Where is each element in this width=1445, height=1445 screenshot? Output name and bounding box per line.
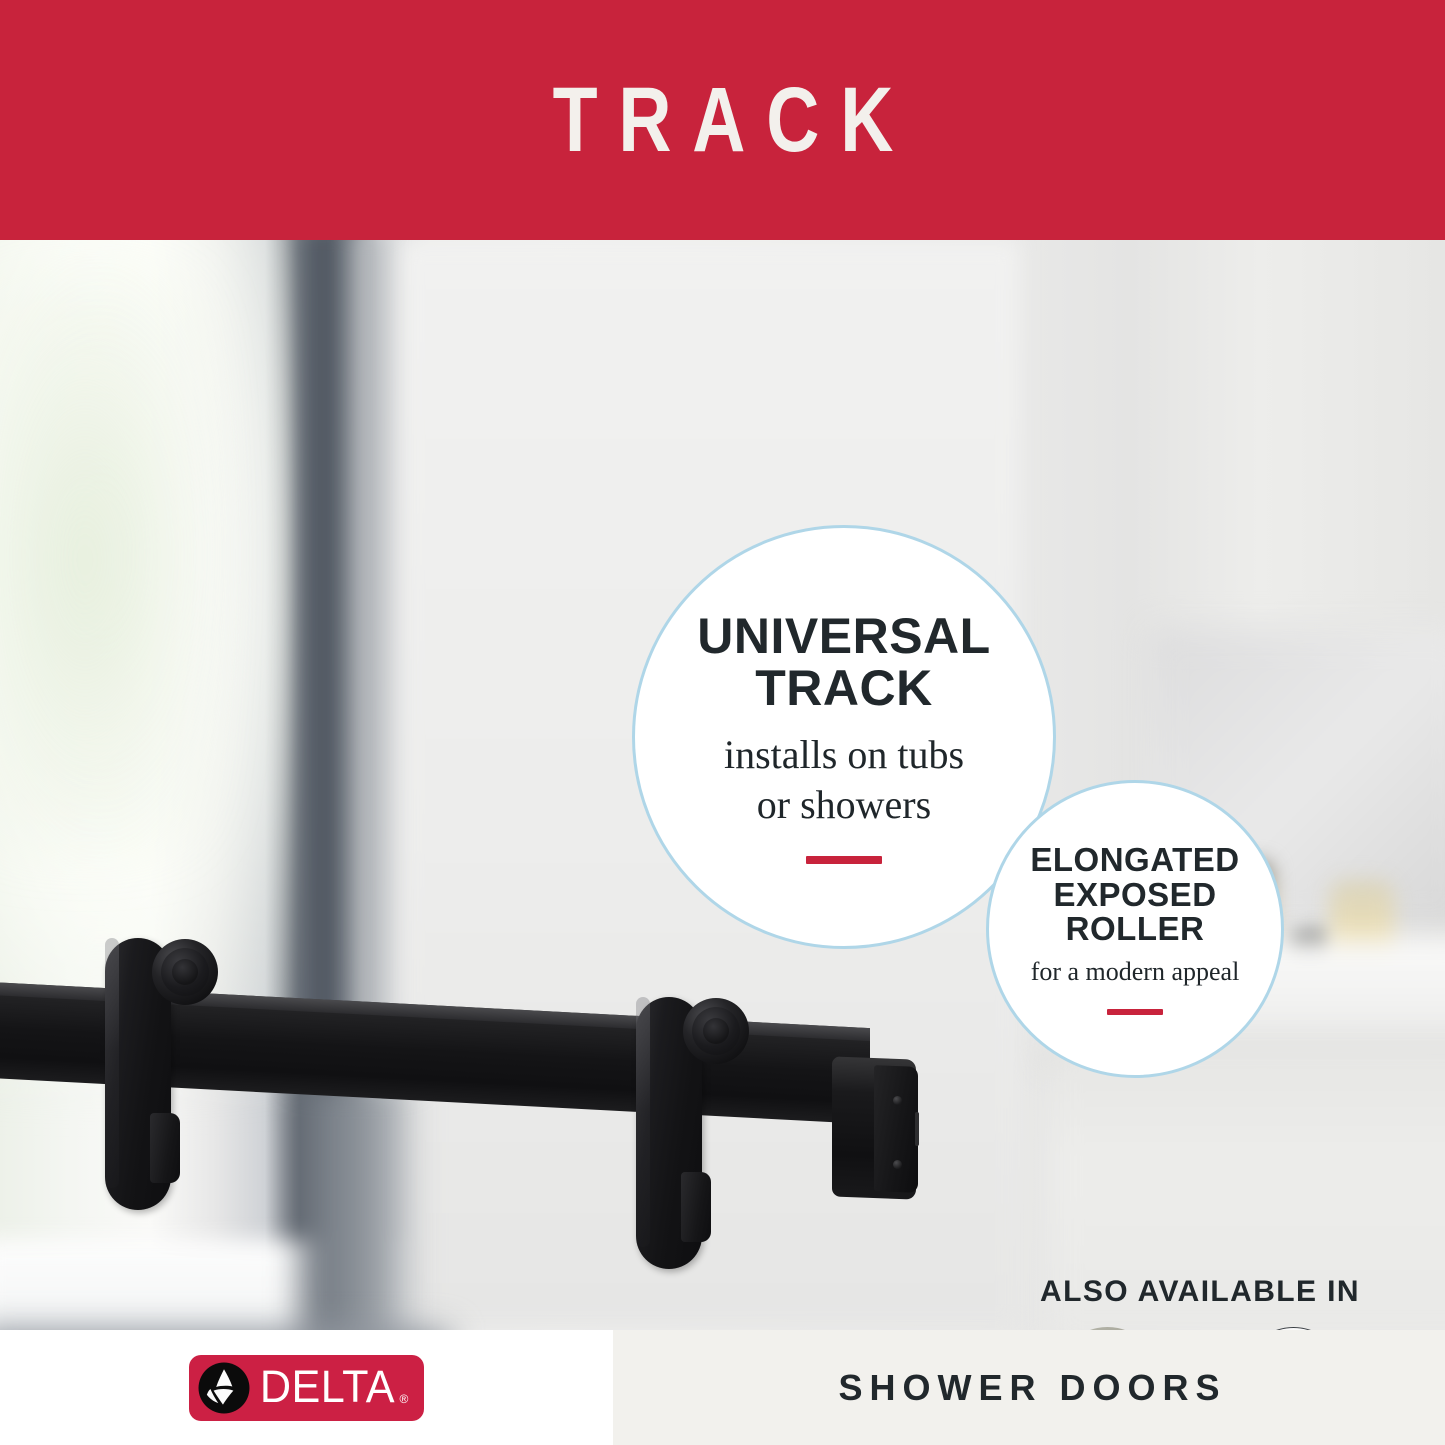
callout-subtext: for a modern appeal (1031, 956, 1240, 988)
end-cap-seam (915, 1112, 919, 1146)
product-photo: UNIVERSAL TRACK installs on tubs or show… (0, 240, 1445, 1330)
bracket-highlight (105, 938, 119, 1188)
bracket-highlight (636, 997, 650, 1247)
accent-dash (806, 856, 882, 864)
callout-heading: ELONGATED EXPOSED ROLLER (989, 843, 1281, 946)
delta-wordmark-text: DELTA (259, 1366, 394, 1409)
footer-bar: DELTA ® SHOWER DOORS (0, 1330, 1445, 1445)
also-available-heading: ALSO AVAILABLE IN (1000, 1275, 1400, 1309)
callout-subtext-line: or showers (724, 780, 964, 830)
roller-wheel-hub (172, 959, 198, 985)
bracket-hook (150, 1113, 180, 1183)
footer-brand-area: DELTA ® (0, 1330, 613, 1445)
callout-heading-line: EXPOSED ROLLER (989, 878, 1281, 947)
track-end-cap-face (874, 1065, 918, 1193)
accent-dash (1107, 1009, 1163, 1015)
delta-triangle-icon (198, 1362, 250, 1414)
registered-trademark-icon: ® (398, 1393, 409, 1409)
callout-heading-line: UNIVERSAL (697, 610, 990, 662)
callout-heading-line: ELONGATED (989, 843, 1281, 877)
also-available-section: ALSO AVAILABLE IN BRUSHED NICKEL CHROME (1000, 1275, 1400, 1330)
page-title: TRACK (531, 74, 913, 166)
callout-subtext-line: installs on tubs (724, 730, 964, 780)
header-banner: TRACK (0, 0, 1445, 240)
callout-heading: UNIVERSAL TRACK (697, 610, 990, 714)
callout-subtext: installs on tubs or showers (724, 730, 964, 829)
end-cap-screw (893, 1096, 902, 1105)
delta-logo[interactable]: DELTA ® (189, 1355, 425, 1421)
callout-exposed-roller: ELONGATED EXPOSED ROLLER for a modern ap… (986, 780, 1284, 1078)
end-cap-screw (893, 1160, 902, 1169)
footer-tagline: SHOWER DOORS (831, 1367, 1226, 1409)
delta-wordmark: DELTA ® (257, 1366, 409, 1409)
bracket-hook (681, 1172, 711, 1242)
callout-heading-line: TRACK (697, 662, 990, 714)
footer-tagline-area: SHOWER DOORS (613, 1330, 1445, 1445)
roller-wheel-hub (703, 1018, 729, 1044)
product-feature-card: TRACK (0, 0, 1445, 1445)
callout-subtext-line: for a modern appeal (1031, 956, 1240, 988)
